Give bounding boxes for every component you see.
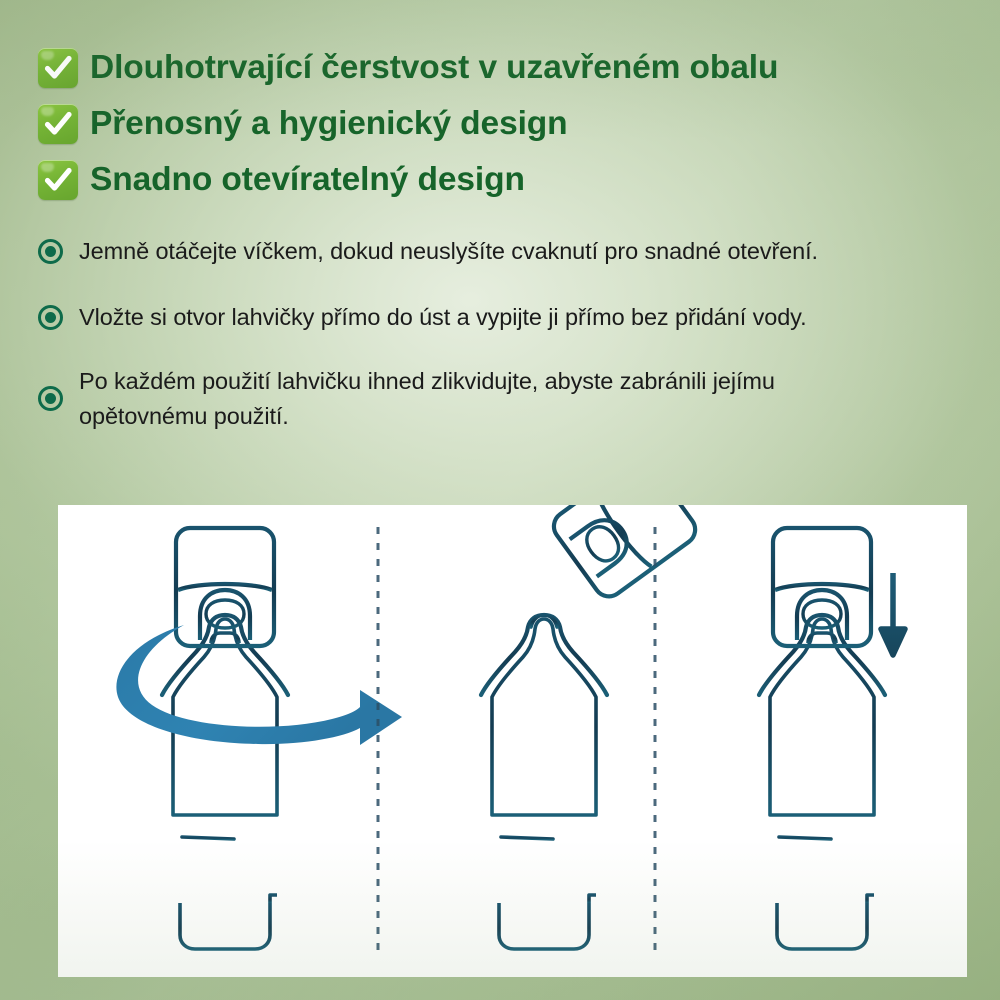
instruction-item-3: Po každém použití lahvičku ihned zlikvid… xyxy=(38,364,988,434)
rotate-arrow-icon xyxy=(116,625,402,745)
instruction-list: Jemně otáčejte víčkem, dokud neuslyšíte … xyxy=(38,232,988,434)
feature-checklist: Dlouhotrvající čerstvost v uzavřeném oba… xyxy=(38,40,968,208)
headline-item-3-label: Snadno otevíratelný design xyxy=(90,162,525,197)
check-square-icon xyxy=(38,104,78,144)
instruction-item-3-line-2: opětovnému použití. xyxy=(79,399,775,434)
radio-dot-icon xyxy=(38,305,63,330)
check-square-icon xyxy=(38,160,78,200)
headline-item-2-label: Přenosný a hygienický design xyxy=(90,106,568,141)
step-2-remove-cap xyxy=(481,505,701,965)
radio-dot-icon xyxy=(38,386,63,411)
instruction-item-1-label: Jemně otáčejte víčkem, dokud neuslyšíte … xyxy=(79,234,818,269)
tilted-cap-icon xyxy=(548,505,701,602)
check-square-icon xyxy=(38,48,78,88)
headline-item-1: Dlouhotrvající čerstvost v uzavřeném oba… xyxy=(38,40,968,95)
instruction-item-2-label: Vložte si otvor lahvičky přímo do úst a … xyxy=(79,300,807,335)
instruction-item-3-label: Po každém použití lahvičku ihned zlikvid… xyxy=(79,364,775,434)
down-arrow-icon xyxy=(881,573,905,655)
headline-item-3: Snadno otevíratelný design xyxy=(38,152,968,207)
headline-item-1-label: Dlouhotrvající čerstvost v uzavřeném oba… xyxy=(90,50,778,85)
headline-item-2: Přenosný a hygienický design xyxy=(38,96,968,151)
promo-infographic-page: Dlouhotrvající čerstvost v uzavřeném oba… xyxy=(0,0,1000,1000)
instruction-item-1: Jemně otáčejte víčkem, dokud neuslyšíte … xyxy=(38,232,988,270)
step-3-drink xyxy=(759,528,905,965)
bottle-opening-instructions xyxy=(58,505,967,977)
step-1-twist-cap xyxy=(116,528,402,965)
instruction-item-2: Vložte si otvor lahvičky přímo do úst a … xyxy=(38,298,988,336)
radio-dot-icon xyxy=(38,239,63,264)
instruction-item-3-line-1: Po každém použití lahvičku ihned zlikvid… xyxy=(79,368,775,394)
